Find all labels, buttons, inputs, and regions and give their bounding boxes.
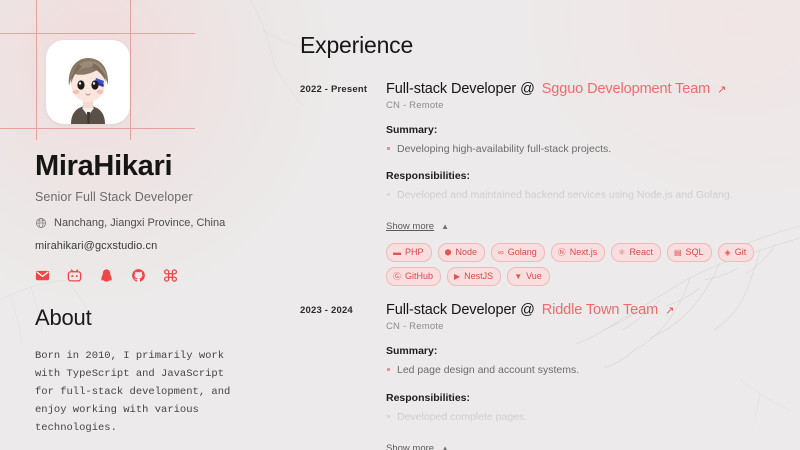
qq-icon[interactable] — [99, 268, 114, 283]
tech-tag[interactable]: ⚛React — [611, 243, 661, 262]
tech-tag[interactable]: ⓃNext.js — [551, 243, 606, 262]
tech-tag-label: Next.js — [570, 246, 598, 259]
job-title: Full-stack Developer @ — [386, 81, 535, 97]
email-text[interactable]: mirahikari@gcxstudio.cn — [35, 240, 260, 252]
tech-tag-icon: ⚛ — [618, 249, 625, 257]
main-content: Experience 2022 - Present Full-stack Dev… — [290, 0, 800, 450]
tech-tag-list: ▬PHP ⬢Node ∞Golang ⓃNext.js ⚛React ▤SQL … — [386, 243, 780, 286]
list-item: Developing high-availability full-stack … — [386, 141, 780, 157]
tech-tag-icon: ▶ — [454, 273, 460, 281]
location-text: Nanchang, Jiangxi Province, China — [54, 217, 225, 229]
email-icon[interactable] — [35, 268, 50, 283]
tech-tag[interactable]: ⬢Node — [438, 243, 486, 262]
tech-tag[interactable]: ▤SQL — [667, 243, 712, 262]
location-row: Nanchang, Jiangxi Province, China — [35, 217, 260, 229]
avatar[interactable] — [46, 40, 130, 124]
summary-list: Developing high-availability full-stack … — [386, 141, 780, 157]
external-link-icon[interactable]: ↗ — [717, 85, 726, 96]
list-item: Developed and maintained backend service… — [386, 187, 780, 203]
job-title: Full-stack Developer @ — [386, 302, 535, 318]
tech-tag-label: SQL — [686, 246, 704, 259]
responsibilities-list: Developed complete pages. — [386, 409, 780, 425]
tech-tag[interactable]: ▼Vue — [507, 267, 550, 286]
job-title-row: Full-stack Developer @ Riddle Town Team … — [386, 302, 780, 318]
tech-tag-label: React — [629, 246, 653, 259]
avatar-guide-right — [130, 0, 131, 140]
tech-tag-label: GitHub — [405, 270, 433, 283]
responsibilities-label: Responsibilities: — [386, 392, 780, 404]
chevron-up-icon: ▲ — [441, 222, 449, 231]
tech-tag[interactable]: ▬PHP — [386, 243, 432, 262]
list-item: Developed complete pages. — [386, 409, 780, 425]
show-more-toggle[interactable]: Show more ▲ — [386, 221, 449, 232]
social-links — [35, 268, 260, 283]
experience-entry: 2022 - Present Full-stack Developer @ Sg… — [300, 81, 780, 286]
tech-tag-icon: ∞ — [498, 249, 504, 257]
show-more-toggle[interactable]: Show more ▲ — [386, 443, 449, 450]
responsibilities-list: Developed and maintained backend service… — [386, 187, 780, 203]
responsibilities-collapsed: Developed complete pages. — [386, 404, 780, 438]
tech-tag-label: Git — [735, 246, 747, 259]
sidebar: MiraHikari Senior Full Stack Developer N… — [0, 0, 290, 450]
experience-heading: Experience — [300, 32, 780, 59]
avatar-guide-bottom — [0, 128, 195, 129]
tech-tag[interactable]: ∞Golang — [491, 243, 545, 262]
tech-tag-icon: Ⓖ — [393, 273, 401, 281]
show-more-label: Show more — [386, 221, 434, 232]
tech-tag[interactable]: ⒼGitHub — [386, 267, 441, 286]
role-subtitle: Senior Full Stack Developer — [35, 190, 260, 204]
experience-entry: 2023 - 2024 Full-stack Developer @ Riddl… — [300, 302, 780, 450]
github-icon[interactable] — [131, 268, 146, 283]
summary-list: Led page design and account systems. — [386, 362, 780, 378]
summary-label: Summary: — [386, 124, 780, 136]
tech-tag-label: Vue — [526, 270, 542, 283]
tech-tag-label: NestJS — [464, 270, 493, 283]
job-meta: CN - Remote — [386, 321, 780, 332]
chevron-up-icon: ▲ — [441, 444, 449, 450]
job-period: 2023 - 2024 — [300, 302, 386, 450]
about-text: Born in 2010, I primarily work with Type… — [35, 347, 235, 437]
external-link-icon[interactable]: ↗ — [665, 306, 674, 317]
command-icon[interactable] — [163, 268, 178, 283]
tech-tag-icon: ▼ — [514, 273, 522, 281]
summary-label: Summary: — [386, 345, 780, 357]
job-title-row: Full-stack Developer @ Sgguo Development… — [386, 81, 780, 97]
globe-icon — [35, 217, 47, 229]
tech-tag[interactable]: ▶NestJS — [447, 267, 501, 286]
tech-tag[interactable]: ◈Git — [718, 243, 755, 262]
responsibilities-label: Responsibilities: — [386, 170, 780, 182]
list-item: Led page design and account systems. — [386, 362, 780, 378]
tech-tag-icon: ◈ — [725, 249, 731, 257]
tech-tag-icon: ▬ — [393, 249, 401, 257]
tech-tag-label: PHP — [405, 246, 424, 259]
tech-tag-label: Golang — [508, 246, 537, 259]
responsibilities-collapsed: Developed and maintained backend service… — [386, 182, 780, 216]
avatar-guide-top — [0, 33, 195, 34]
resume-page: MiraHikari Senior Full Stack Developer N… — [0, 0, 800, 450]
page-title: MiraHikari — [35, 150, 260, 183]
job-company-link[interactable]: Sgguo Development Team — [542, 81, 710, 97]
job-period: 2022 - Present — [300, 81, 386, 286]
tech-tag-label: Node — [456, 246, 478, 259]
bilibili-icon[interactable] — [67, 268, 82, 283]
avatar-illustration-icon — [49, 46, 127, 124]
avatar-guide-left — [36, 0, 37, 140]
about-heading: About — [35, 305, 260, 331]
tech-tag-icon: ▤ — [674, 249, 682, 257]
tech-tag-icon: ⬢ — [445, 249, 452, 257]
tech-tag-icon: Ⓝ — [558, 249, 566, 257]
show-more-label: Show more — [386, 443, 434, 450]
job-meta: CN - Remote — [386, 100, 780, 111]
job-company-link[interactable]: Riddle Town Team — [542, 302, 658, 318]
